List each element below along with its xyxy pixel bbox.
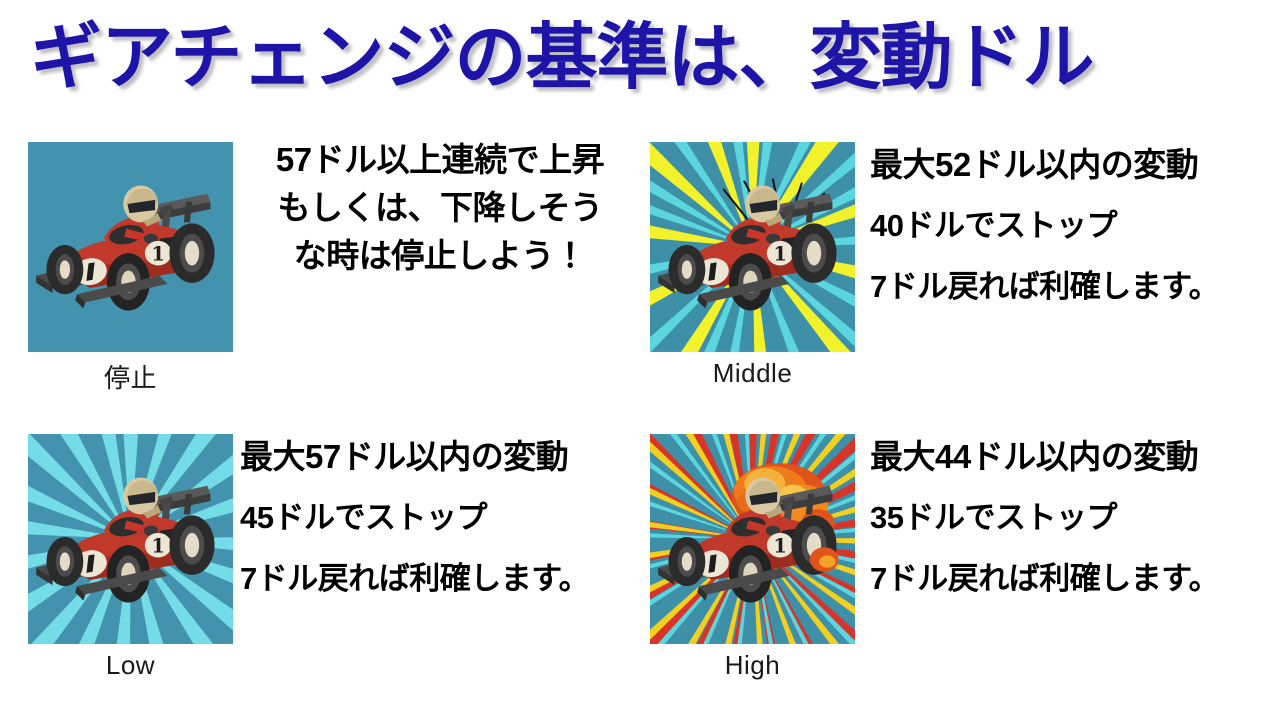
caption-low: Low <box>0 650 261 681</box>
figure-middle <box>650 142 855 352</box>
text-line: な時は停止しよう！ <box>240 232 640 280</box>
text-line: 40ドルでストップ <box>870 195 1280 256</box>
text-block-high: 最大44ドル以内の変動 35ドルでストップ 7ドル戻れば利確します。 <box>870 426 1280 609</box>
text-line: 7ドル戻れば利確します。 <box>870 256 1280 317</box>
text-line: 7ドル戻れば利確します。 <box>870 548 1280 609</box>
slide-root: ギアチェンジの基準は、変動ドル <box>0 0 1280 720</box>
caption-middle: Middle <box>622 358 883 389</box>
text-line: 35ドルでストップ <box>870 487 1280 548</box>
text-block-middle: 最大52ドル以内の変動 40ドルでストップ 7ドル戻れば利確します。 <box>870 134 1280 317</box>
race-car-plain-image: 1 <box>28 142 233 352</box>
text-line: 最大57ドル以内の変動 <box>240 426 650 487</box>
figure-stop: 1 <box>28 142 233 352</box>
text-line: もしくは、下降しそう <box>240 184 640 232</box>
caption-high: High <box>622 650 883 681</box>
text-line: 最大44ドル以内の変動 <box>870 426 1280 487</box>
text-line: 7ドル戻れば利確します。 <box>240 548 650 609</box>
race-car-burst-yellow-image <box>650 142 855 352</box>
text-line: 57ドル以上連続で上昇 <box>240 136 640 184</box>
race-car-explosion-image <box>650 434 855 644</box>
race-car-burst-cyan-image <box>28 434 233 644</box>
caption-stop: 停止 <box>0 358 261 395</box>
text-block-low: 最大57ドル以内の変動 45ドルでストップ 7ドル戻れば利確します。 <box>240 426 650 609</box>
text-line: 最大52ドル以内の変動 <box>870 134 1280 195</box>
page-title: ギアチェンジの基準は、変動ドル <box>30 8 1250 108</box>
figure-low <box>28 434 233 644</box>
text-block-stop: 57ドル以上連続で上昇 もしくは、下降しそう な時は停止しよう！ <box>240 136 640 280</box>
text-line: 45ドルでストップ <box>240 487 650 548</box>
figure-high <box>650 434 855 644</box>
